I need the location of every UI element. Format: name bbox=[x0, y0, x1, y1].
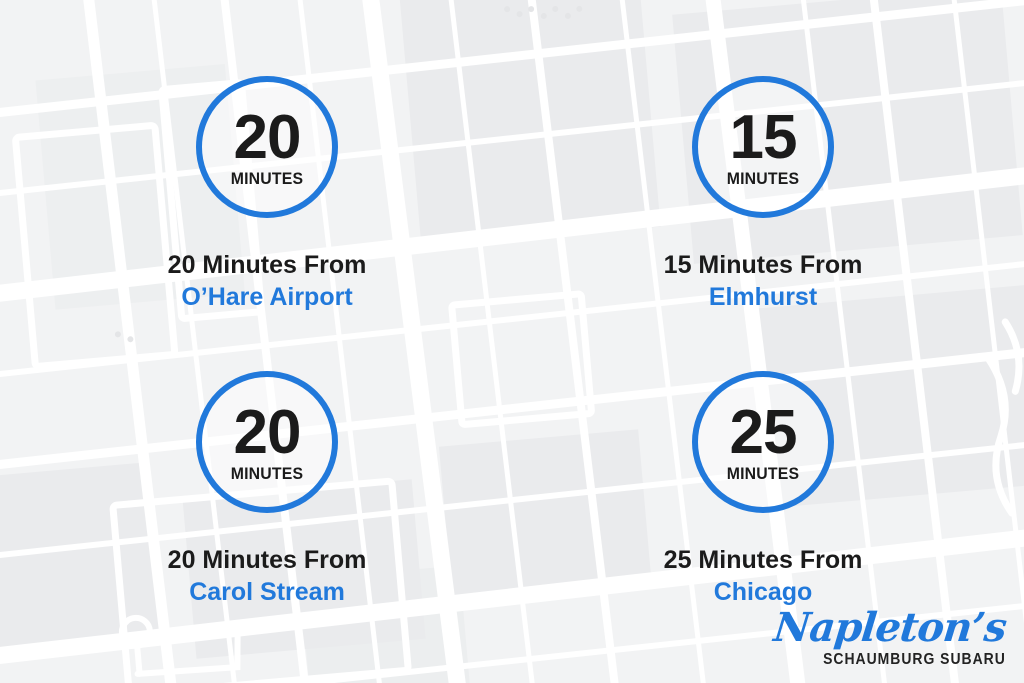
badge-unit-label: MINUTES bbox=[231, 465, 303, 482]
dealership-logo[interactable]: Napleton’s SCHAUMBURG SUBARU bbox=[774, 608, 1006, 669]
card-caption: 20 Minutes From Carol Stream bbox=[168, 544, 367, 608]
badge-number: 20 bbox=[234, 111, 301, 164]
badge-number: 25 bbox=[730, 406, 797, 459]
travel-time-card-elmhurst: 15 MINUTES 15 Minutes From Elmhurst bbox=[512, 76, 1024, 313]
caption-primary: 20 Minutes From bbox=[168, 249, 367, 281]
badge-unit-label: MINUTES bbox=[727, 170, 799, 187]
travel-time-card-ohare: 20 MINUTES 20 Minutes From O’Hare Airpor… bbox=[0, 76, 512, 313]
minutes-badge: 20 MINUTES bbox=[196, 371, 338, 513]
minutes-badge: 15 MINUTES bbox=[692, 76, 834, 218]
caption-primary: 15 Minutes From bbox=[664, 249, 863, 281]
badge-unit-label: MINUTES bbox=[727, 465, 799, 482]
card-caption: 15 Minutes From Elmhurst bbox=[664, 249, 863, 313]
caption-location: O’Hare Airport bbox=[168, 281, 367, 313]
caption-primary: 20 Minutes From bbox=[168, 544, 367, 576]
caption-location: Elmhurst bbox=[664, 281, 863, 313]
caption-primary: 25 Minutes From bbox=[664, 544, 863, 576]
logo-subtitle: SCHAUMBURG SUBARU bbox=[797, 651, 1006, 669]
travel-time-card-chicago: 25 MINUTES 25 Minutes From Chicago bbox=[512, 371, 1024, 608]
badge-number: 20 bbox=[234, 406, 301, 459]
card-caption: 20 Minutes From O’Hare Airport bbox=[168, 249, 367, 313]
travel-time-card-carol-stream: 20 MINUTES 20 Minutes From Carol Stream bbox=[0, 371, 512, 608]
badge-unit-label: MINUTES bbox=[231, 170, 303, 187]
promo-content: 20 MINUTES 20 Minutes From O’Hare Airpor… bbox=[0, 0, 1024, 683]
badge-number: 15 bbox=[730, 111, 797, 164]
minutes-badge: 25 MINUTES bbox=[692, 371, 834, 513]
card-caption: 25 Minutes From Chicago bbox=[664, 544, 863, 608]
travel-time-grid: 20 MINUTES 20 Minutes From O’Hare Airpor… bbox=[0, 76, 1024, 608]
minutes-badge: 20 MINUTES bbox=[196, 76, 338, 218]
logo-wordmark: Napleton’s bbox=[772, 608, 1008, 648]
caption-location: Carol Stream bbox=[168, 576, 367, 608]
